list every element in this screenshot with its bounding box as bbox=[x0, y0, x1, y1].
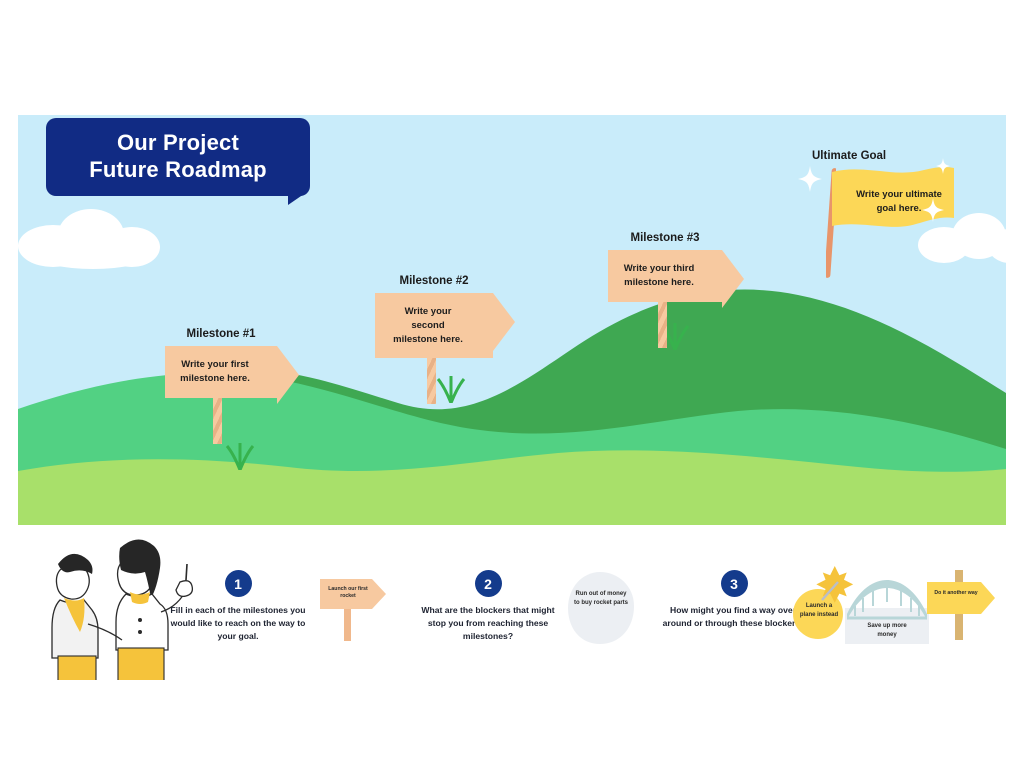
instruction-row: 1 Fill in each of the milestones you wou… bbox=[0, 528, 1024, 768]
step-1-text: Fill in each of the milestones you would… bbox=[163, 604, 313, 643]
sparkle-icon-1 bbox=[798, 166, 822, 192]
milestone-1-text: Write your first milestone here. bbox=[180, 359, 250, 384]
milestone-3-text: Write your third milestone here. bbox=[624, 263, 695, 288]
ultimate-goal-flag[interactable]: Ultimate Goal Write your ultimate goal h… bbox=[812, 150, 886, 168]
step-1: 1 Fill in each of the milestones you wou… bbox=[163, 570, 313, 643]
sign-arrow-tip-1 bbox=[277, 346, 299, 404]
sparkle-icon-3 bbox=[936, 158, 950, 174]
sign-arrow-tip-3 bbox=[722, 250, 744, 308]
grass-tuft-2 bbox=[434, 373, 468, 403]
sign-arrow-tip-2 bbox=[493, 293, 515, 351]
example-milestone-sign[interactable]: Launch our first rocket bbox=[320, 575, 390, 645]
example-plane-text: Launch a plane instead bbox=[798, 602, 840, 619]
sign-post-3 bbox=[658, 302, 667, 348]
sparkle-icon-2 bbox=[922, 198, 944, 222]
ultimate-goal-label: Ultimate Goal bbox=[812, 150, 886, 162]
grass-tuft-1 bbox=[223, 440, 257, 470]
milestone-3-label: Milestone #3 bbox=[608, 232, 722, 244]
blocker-blob-shape bbox=[566, 570, 636, 646]
step-2: 2 What are the blockers that might stop … bbox=[412, 570, 564, 643]
sign-post-1 bbox=[213, 398, 222, 444]
title-badge: Our Project Future Roadmap bbox=[46, 118, 310, 196]
milestone-2-board: Write your second milestone here. bbox=[375, 293, 493, 358]
title-line-1: Our Project bbox=[117, 130, 239, 157]
step-2-badge: 2 bbox=[475, 570, 502, 597]
milestone-1-label: Milestone #1 bbox=[165, 328, 277, 340]
title-line-2: Future Roadmap bbox=[89, 157, 267, 184]
step-3-badge: 3 bbox=[721, 570, 748, 597]
milestone-3-board: Write your third milestone here. bbox=[608, 250, 722, 302]
light-green-hill-layer bbox=[18, 415, 1006, 525]
example-bridge-text: Save up more money bbox=[859, 622, 915, 639]
milestone-sign-3[interactable]: Milestone #3 Write your third milestone … bbox=[608, 232, 722, 302]
step-2-text: What are the blockers that might stop yo… bbox=[412, 604, 564, 643]
example-blocker-blob[interactable]: Run out of money to buy rocket parts bbox=[566, 570, 636, 646]
solution-sign-shape bbox=[925, 568, 1001, 648]
milestone-2-label: Milestone #2 bbox=[375, 275, 493, 287]
example-sign-text: Do it another way bbox=[931, 590, 981, 597]
example-solution-sign[interactable]: Do it another way bbox=[925, 568, 1001, 648]
milestone-1-board: Write your first milestone here. bbox=[165, 346, 277, 398]
milestone-sign-1[interactable]: Milestone #1 Write your first milestone … bbox=[165, 328, 277, 398]
example-milestone-text: Launch our first rocket bbox=[324, 586, 372, 601]
step-1-badge: 1 bbox=[225, 570, 252, 597]
example-solution-bridge[interactable]: Save up more money bbox=[845, 578, 929, 644]
step-3: 3 How might you find a way over, around … bbox=[658, 570, 810, 630]
milestone-2-text: Write your second milestone here. bbox=[393, 306, 463, 345]
example-blocker-text: Run out of money to buy rocket parts bbox=[574, 590, 628, 607]
sign-post-2 bbox=[427, 358, 436, 404]
milestone-sign-2[interactable]: Milestone #2 Write your second milestone… bbox=[375, 275, 493, 358]
step-3-text: How might you find a way over, around or… bbox=[658, 604, 810, 630]
infographic-canvas: Our Project Future Roadmap Milestone #1 … bbox=[0, 0, 1024, 768]
